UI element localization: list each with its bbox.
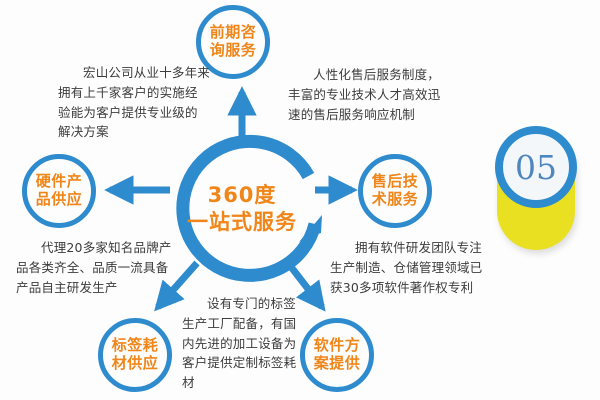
node-label-consumables-supply-label: 标签耗 材供应 <box>104 337 166 372</box>
node-line1: 前期咨 <box>210 23 257 41</box>
node-after-sales-technical-service-label: 售后技 术服务 <box>364 173 426 208</box>
badge-number: 05 <box>515 151 557 184</box>
center-node-line2: 一站式服务 <box>187 210 297 234</box>
description-label-consumables-supply: 设有专门的标签生产工厂配备，有国内先进的加工设备为客户提供定制标签耗材 <box>182 294 302 393</box>
node-line1: 售后技 <box>372 172 419 190</box>
description-after-sales-technical-service: 人性化售后服务制度，丰富的专业技术人才高效迅速的售后服务响应机制 <box>288 65 448 124</box>
center-node[interactable]: 360度 一站式服务 <box>181 148 303 270</box>
description-pre-sales-consulting: 宏山公司从业十多年来拥有上千家客户的实施经验能为客户提供专业级的解决方案 <box>58 63 210 142</box>
description-software-solution-provision: 拥有软件研发团队专注生产制造、仓储管理领域已获30多项软件著作权专利 <box>330 238 488 297</box>
node-software-solution-provision-label: 软件方 案提供 <box>306 337 368 372</box>
node-line2: 案提供 <box>314 354 361 372</box>
node-after-sales-technical-service[interactable]: 售后技 术服务 <box>358 154 432 228</box>
node-line1: 硬件产 <box>36 172 83 190</box>
node-line2: 品供应 <box>36 190 83 208</box>
node-line2: 术服务 <box>372 190 419 208</box>
description-hardware-product-supply: 代理20多家知名品牌产品各类齐全、品质一流具备产品自主研发生产 <box>16 238 174 297</box>
center-node-line1: 360度 <box>208 183 277 207</box>
node-label-consumables-supply[interactable]: 标签耗 材供应 <box>98 318 172 392</box>
node-line1: 标签耗 <box>112 336 159 354</box>
node-line2: 材供应 <box>112 354 159 372</box>
node-hardware-product-supply-label: 硬件产 品供应 <box>28 173 90 208</box>
node-pre-sales-consulting-label: 前期咨 询服务 <box>202 24 264 59</box>
node-line2: 询服务 <box>210 41 257 59</box>
node-hardware-product-supply[interactable]: 硬件产 品供应 <box>22 154 96 228</box>
center-node-label: 360度 一站式服务 <box>182 182 302 236</box>
node-software-solution-provision[interactable]: 软件方 案提供 <box>300 318 374 392</box>
infographic-canvas: 360度 一站式服务 前期咨 询服务 售后技 术服务 软件方 案提供 标签耗 材… <box>0 0 600 400</box>
badge-ring: 05 <box>495 126 577 208</box>
node-line1: 软件方 <box>314 336 361 354</box>
